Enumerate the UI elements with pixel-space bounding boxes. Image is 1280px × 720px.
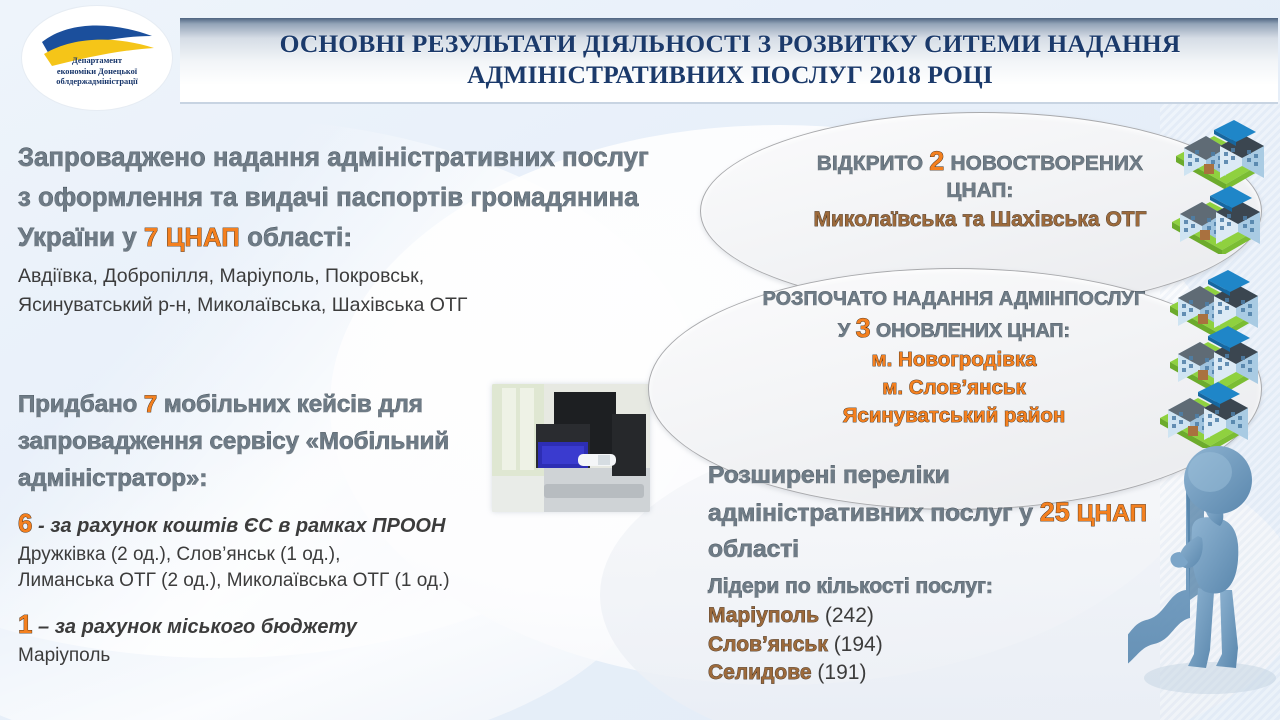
mobile-cases-block: Придбано 7 мобільних кейсів для запровад… — [18, 386, 538, 669]
leader-city-1: Слов’янськ — [708, 633, 828, 656]
mobile-group1-cities-line2: Лиманська ОТГ (2 од.), Миколаївська ОТГ … — [18, 568, 538, 594]
leader-city-2: Селидове — [708, 661, 812, 684]
logo-caption: Департамент економіки Донецької облдержа… — [22, 56, 172, 88]
logo-line2: економіки Донецької — [22, 67, 172, 78]
expanded-lists-block: Розширені переліки адміністративних посл… — [708, 458, 1158, 688]
logo-line3: облдержадміністрації — [22, 77, 172, 88]
passport-lead-part3: області: — [240, 224, 352, 252]
person-with-list-illustration — [1128, 440, 1280, 715]
mobile-group2-caption: 1 – за рахунок міського бюджету — [18, 610, 538, 641]
new-cnap-line1-part1: ВІДКРИТО — [817, 152, 929, 175]
leader-count-1: (194) — [834, 633, 883, 656]
mobile-group1-source: - за рахунок коштів ЄС в рамках ПРООН — [38, 515, 445, 537]
office-building-icon — [1168, 108, 1280, 254]
passport-lead-number: 7 — [144, 224, 158, 252]
renewed-cnap-line2-part1: У — [838, 320, 856, 342]
mobile-group1-caption: 6 - за рахунок коштів ЄС в рамках ПРООН — [18, 509, 538, 540]
mobile-group2-cities-line1: Маріуполь — [18, 643, 538, 669]
new-cnap-line1-part2: НОВОСТВОРЕНИХ — [945, 152, 1144, 175]
mobile-group2-source: – за рахунок міського бюджету — [38, 616, 357, 638]
leader-row-1: Слов’янськ (194) — [708, 631, 1158, 660]
department-logo: Департамент економіки Донецької облдержа… — [22, 6, 172, 110]
passport-city-line1: Авдіївка, Добропілля, Маріуполь, Покровс… — [18, 262, 666, 291]
buildings-cluster-renewed-cnap — [1158, 258, 1280, 453]
passport-city-list: Авдіївка, Добропілля, Маріуполь, Покровс… — [18, 262, 666, 320]
buildings-cluster-new-cnap — [1168, 108, 1280, 259]
passport-lead-cnap: ЦНАП — [158, 224, 240, 252]
new-cnap-count: 2 — [929, 146, 944, 176]
mobile-group1-number: 6 — [18, 508, 32, 538]
passport-services-lead: Запроваджено надання адміністративних по… — [18, 138, 666, 258]
leader-row-0: Маріуполь (242) — [708, 602, 1158, 631]
page-title-line2: АДМІНІСТРАТИВНИХ ПОСЛУГ 2018 РОЦІ — [200, 59, 1260, 90]
mobile-group1-cities-line1: Дружківка (2 од.), Слов’янськ (1 од.), — [18, 542, 538, 568]
page-title-line1: ОСНОВНІ РЕЗУЛЬТАТИ ДІЯЛЬНОСТІ З РОЗВИТКУ… — [200, 28, 1260, 59]
leader-count-2: (191) — [817, 661, 866, 684]
passport-city-line2: Ясинуватський р-н, Миколаївська, Шахівсь… — [18, 291, 666, 320]
mobile-lead-part1: Придбано — [18, 391, 144, 418]
mobile-group2-cities: Маріуполь — [18, 643, 538, 669]
expanded-lead-part1: Розширені переліки адміністративних посл… — [708, 462, 1040, 527]
leader-row-2: Селидове (191) — [708, 659, 1158, 688]
renewed-cnap-count: 3 — [856, 313, 871, 343]
office-building-icon — [1158, 258, 1280, 448]
slide-canvas: ОСНОВНІ РЕЗУЛЬТАТИ ДІЯЛЬНОСТІ З РОЗВИТКУ… — [0, 0, 1280, 720]
mobile-group1-cities: Дружківка (2 од.), Слов’янськ (1 од.), Л… — [18, 542, 538, 594]
logo-line1: Департамент — [22, 56, 172, 67]
leader-city-0: Маріуполь — [708, 604, 819, 627]
leader-count-0: (242) — [825, 604, 874, 627]
mobile-group2-number: 1 — [18, 609, 32, 639]
leaders-title: Лідери по кількості послуг: — [708, 572, 1158, 602]
passport-services-block: Запроваджено надання адміністративних по… — [18, 138, 666, 320]
mobile-lead-number: 7 — [144, 391, 157, 418]
mobile-case-photo — [492, 384, 650, 512]
expanded-lead-part3: області — [708, 536, 799, 563]
expanded-lists-lead: Розширені переліки адміністративних посл… — [708, 458, 1158, 568]
mobile-cases-lead: Придбано 7 мобільних кейсів для запровад… — [18, 386, 538, 497]
expanded-lead-number: 25 — [1040, 497, 1070, 527]
page-title: ОСНОВНІ РЕЗУЛЬТАТИ ДІЯЛЬНОСТІ З РОЗВИТКУ… — [200, 28, 1260, 90]
person-figure-icon — [1128, 440, 1280, 710]
renewed-cnap-line2-part2: ОНОВЛЕНИХ ЦНАП: — [871, 320, 1070, 342]
